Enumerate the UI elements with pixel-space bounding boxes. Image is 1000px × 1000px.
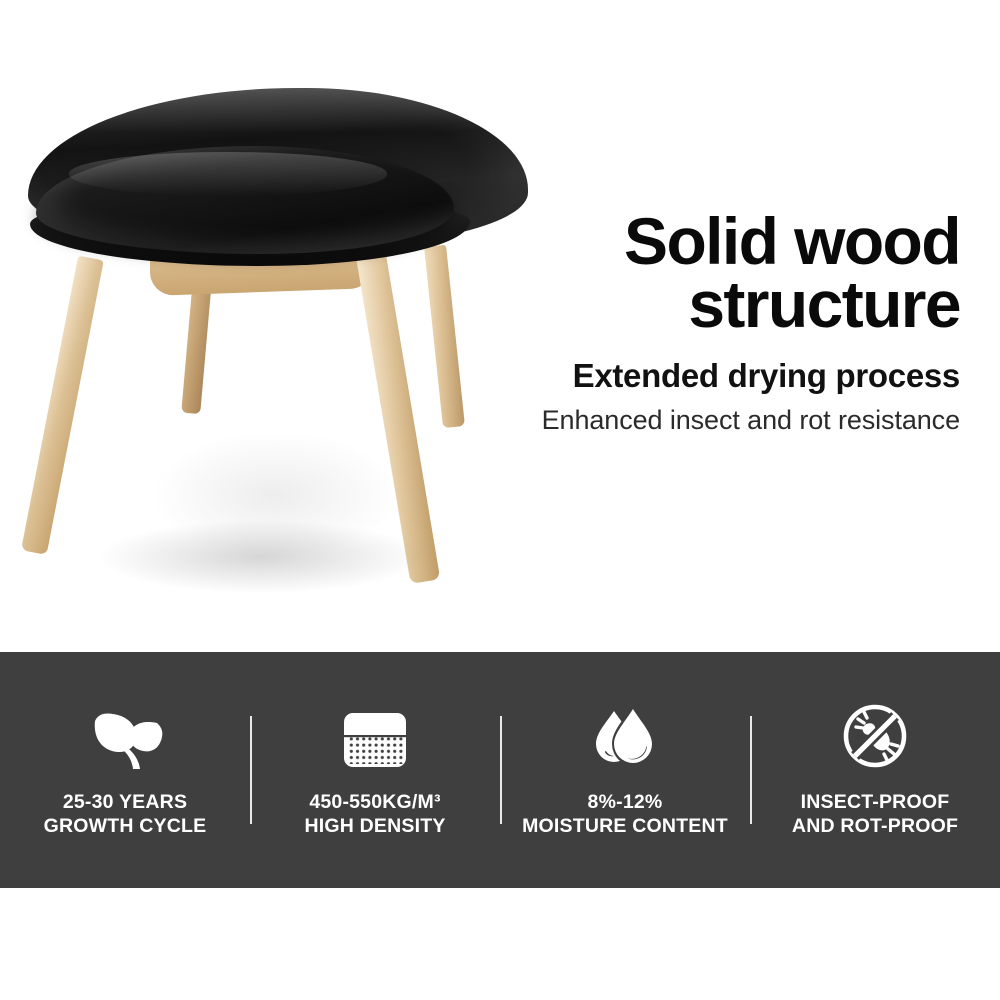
feature-bar: 25-30 YEARS GROWTH CYCLE 450-55 — [0, 652, 1000, 888]
hero-section: Solid wood structure Extended drying pro… — [0, 0, 1000, 652]
subheadline: Extended drying process — [360, 357, 960, 395]
feature-label: INSECT-PROOF AND ROT-PROOF — [792, 791, 958, 839]
water-drops-icon — [589, 701, 661, 769]
headline-line-2: structure — [360, 273, 960, 336]
feature-line-2: HIGH DENSITY — [304, 815, 445, 839]
feature-line-2: MOISTURE CONTENT — [522, 815, 728, 839]
feature-label: 450-550KG/M³ HIGH DENSITY — [304, 791, 445, 839]
feature-item-high-density: 450-550KG/M³ HIGH DENSITY — [250, 652, 500, 888]
chair-leg-front-left — [21, 256, 104, 555]
feature-line-1: 450-550KG/M³ — [309, 791, 440, 813]
page-title: Solid wood structure — [360, 210, 960, 337]
leaf-icon — [87, 701, 163, 769]
no-insect-icon — [842, 701, 908, 769]
feature-line-1: 25-30 YEARS — [63, 791, 187, 813]
feature-item-moisture-content: 8%-12% MOISTURE CONTENT — [500, 652, 750, 888]
floor-shadow — [96, 520, 426, 594]
feature-line-1: 8%-12% — [588, 791, 663, 813]
sub-note: Enhanced insect and rot resistance — [360, 405, 960, 436]
hero-copy: Solid wood structure Extended drying pro… — [360, 210, 960, 436]
density-block-icon — [342, 701, 408, 769]
feature-line-1: INSECT-PROOF — [801, 791, 950, 813]
product-feature-banner: Solid wood structure Extended drying pro… — [0, 0, 1000, 1000]
feature-label: 25-30 YEARS GROWTH CYCLE — [44, 791, 207, 839]
feature-item-insect-rot-proof: INSECT-PROOF AND ROT-PROOF — [750, 652, 1000, 888]
feature-label: 8%-12% MOISTURE CONTENT — [522, 791, 728, 839]
feature-line-2: AND ROT-PROOF — [792, 815, 958, 839]
feature-item-growth-cycle: 25-30 YEARS GROWTH CYCLE — [0, 652, 250, 888]
feature-line-2: GROWTH CYCLE — [44, 815, 207, 839]
